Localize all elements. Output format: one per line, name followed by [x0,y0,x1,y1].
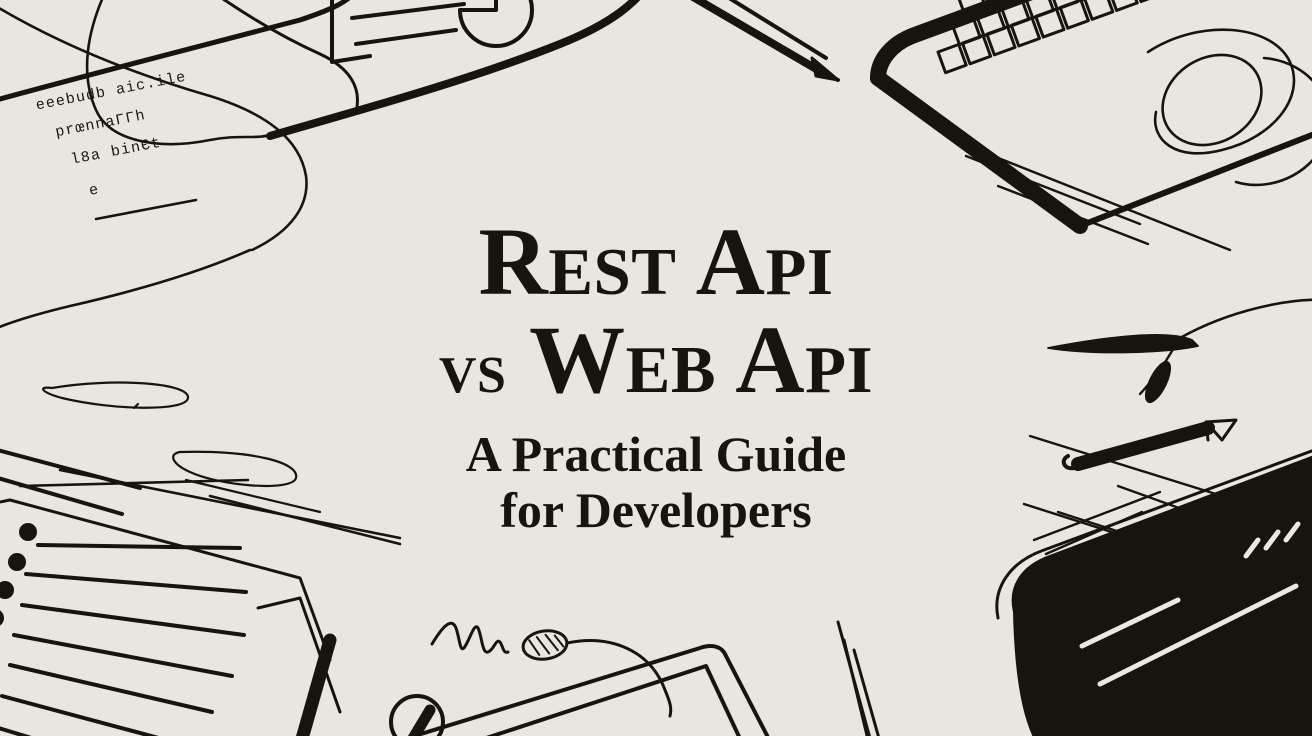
poster-canvas: eeebudb aic.ile prœnnaΓГh l8a binЄt e Re… [0,0,1312,736]
decorative-artwork: eeebudb aic.ile prœnnaΓГh l8a binЄt e [0,0,1312,736]
